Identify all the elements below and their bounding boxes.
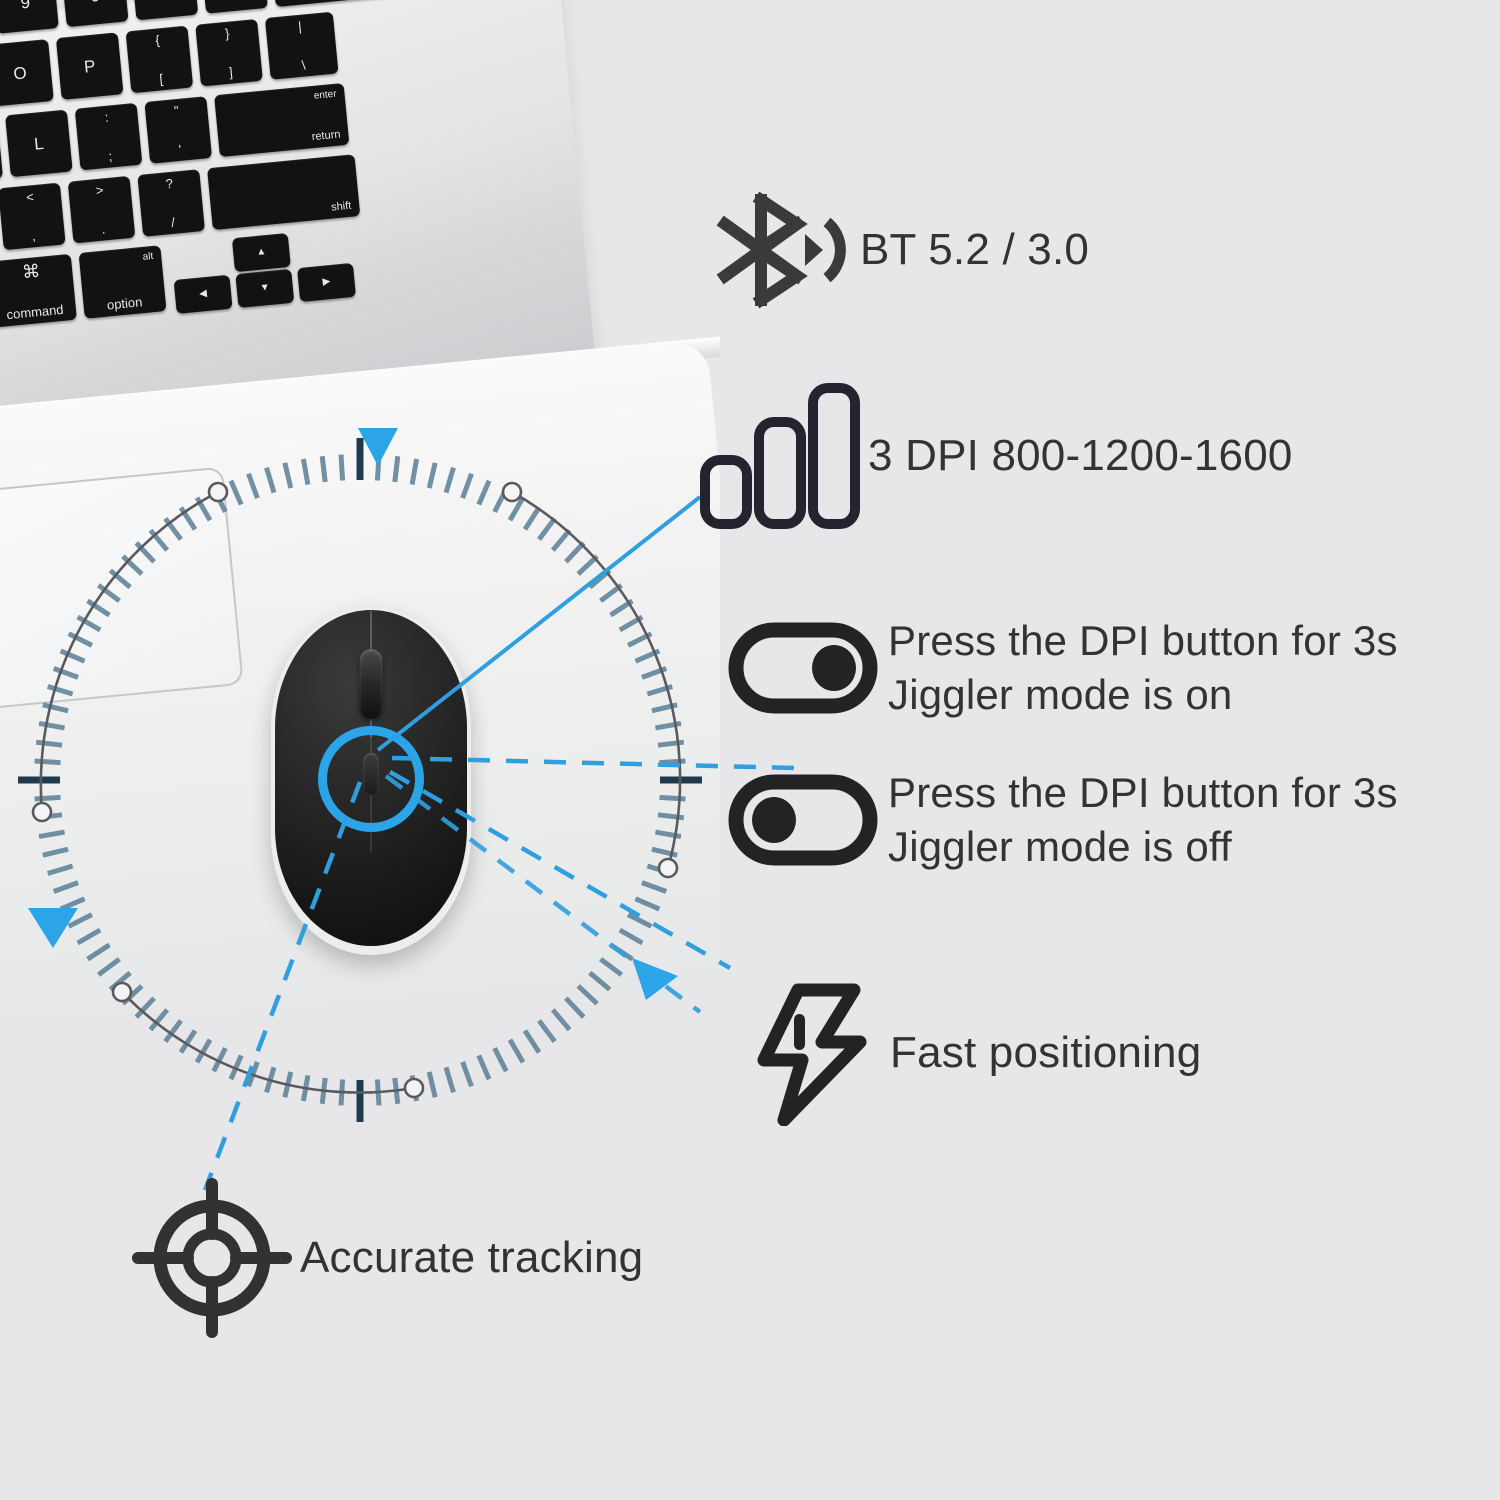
toggle-on-icon-svg bbox=[728, 622, 878, 714]
key-shift-right: shift bbox=[207, 154, 360, 230]
lightning-bolt-icon-svg bbox=[750, 980, 880, 1126]
dial-tick bbox=[341, 1080, 343, 1106]
key-backslash: |\ bbox=[265, 12, 339, 80]
key-semicolon: :; bbox=[75, 103, 143, 171]
key-comma: <, bbox=[0, 183, 66, 251]
key-equal: = bbox=[201, 0, 268, 14]
dial-tick bbox=[151, 1010, 168, 1030]
bluetooth-icon-svg bbox=[705, 186, 855, 314]
toggle-off-knob bbox=[752, 797, 796, 843]
dial-tick bbox=[479, 1056, 489, 1080]
signal-bars-icon-svg bbox=[694, 380, 864, 532]
bluetooth-wave-small bbox=[805, 234, 823, 266]
key-p: P bbox=[56, 32, 124, 100]
dial-tick bbox=[446, 1067, 454, 1092]
mouse-scroll-wheel bbox=[360, 649, 383, 719]
dial-tick bbox=[214, 1048, 226, 1071]
signal-bars-icon bbox=[690, 380, 868, 532]
dial-tick bbox=[495, 1048, 507, 1071]
dial-tick bbox=[267, 1067, 275, 1092]
key-arrow-left: ◀ bbox=[174, 275, 233, 314]
bluetooth-wave-large bbox=[827, 222, 840, 278]
dial-tick bbox=[377, 1080, 379, 1106]
key-period: >. bbox=[68, 176, 136, 244]
feature-fast-positioning-label: Fast positioning bbox=[890, 1025, 1201, 1081]
feature-fast-positioning: Fast positioning bbox=[740, 978, 1480, 1128]
feature-accurate-tracking-label: Accurate tracking bbox=[300, 1230, 643, 1286]
dpi-button-highlight-ring bbox=[318, 726, 424, 832]
key-quote: "' bbox=[144, 96, 212, 164]
key-bracket-left: {[ bbox=[126, 26, 194, 94]
feature-jiggler-off: Press the DPI button for 3s Jiggler mode… bbox=[718, 760, 1488, 880]
signal-bar-1 bbox=[705, 460, 747, 524]
bolt-inner-mark bbox=[794, 1014, 805, 1050]
key-return: enterreturn bbox=[214, 83, 349, 157]
feature-dpi: 3 DPI 800-1200-1600 bbox=[690, 380, 1480, 532]
key-arrow-up: ▲ bbox=[232, 233, 291, 272]
dial-tick bbox=[429, 1072, 435, 1097]
key-minus: - bbox=[131, 0, 198, 20]
dial-tick bbox=[510, 1040, 523, 1063]
key-o: O bbox=[0, 39, 54, 107]
feature-dpi-label: 3 DPI 800-1200-1600 bbox=[868, 428, 1293, 484]
toggle-on-icon bbox=[718, 618, 888, 718]
crosshair-target-icon-svg bbox=[132, 1178, 292, 1338]
product-photo: 8 9 0 - = delete I O P {[ }] |\ K L :; "… bbox=[0, 0, 720, 1010]
dial-tick bbox=[322, 1078, 325, 1104]
dial-tick bbox=[395, 1078, 398, 1104]
toggle-on-knob bbox=[812, 645, 856, 691]
laptop-keyboard: 8 9 0 - = delete I O P {[ }] |\ K L :; "… bbox=[0, 0, 573, 440]
key-command: ⌘command bbox=[0, 254, 77, 328]
toggle-off-icon bbox=[718, 770, 888, 870]
feature-bluetooth-label: BT 5.2 / 3.0 bbox=[860, 222, 1089, 278]
feature-bluetooth: BT 5.2 / 3.0 bbox=[700, 186, 1460, 314]
crosshair-inner-ring bbox=[188, 1234, 236, 1282]
dial-tick bbox=[249, 1062, 258, 1086]
signal-bar-2 bbox=[759, 422, 801, 524]
key-9: 9 bbox=[0, 0, 59, 34]
toggle-off-icon-svg bbox=[728, 774, 878, 866]
dial-tick bbox=[463, 1062, 472, 1086]
laptop-trackpad bbox=[0, 466, 244, 712]
infographic-canvas: 8 9 0 - = delete I O P {[ }] |\ K L :; "… bbox=[0, 0, 1500, 1500]
dial-tick bbox=[303, 1075, 308, 1101]
feature-jiggler-on: Press the DPI button for 3s Jiggler mode… bbox=[718, 608, 1488, 728]
feature-accurate-tracking: Accurate tracking bbox=[124, 1178, 904, 1338]
key-k: K bbox=[0, 116, 3, 184]
dial-tick bbox=[285, 1072, 291, 1097]
crosshair-arms bbox=[138, 1184, 286, 1332]
dial-tick bbox=[525, 1031, 539, 1053]
feature-jiggler-on-label: Press the DPI button for 3s Jiggler mode… bbox=[888, 614, 1398, 722]
dial-tick bbox=[181, 1031, 195, 1053]
feature-jiggler-off-label: Press the DPI button for 3s Jiggler mode… bbox=[888, 766, 1398, 874]
dial-tick bbox=[197, 1040, 210, 1063]
key-arrow-right: ▶ bbox=[297, 263, 356, 302]
dial-tick bbox=[231, 1056, 241, 1080]
dial-tick bbox=[539, 1021, 555, 1042]
key-0: 0 bbox=[61, 0, 128, 27]
signal-bar-3 bbox=[813, 388, 855, 524]
key-bracket-right: }] bbox=[195, 19, 263, 87]
key-slash: ?/ bbox=[137, 169, 205, 237]
bluetooth-icon bbox=[700, 186, 860, 314]
arc-endpoint-bottom bbox=[405, 1079, 423, 1097]
key-arrow-down: ▼ bbox=[235, 269, 294, 308]
key-l: L bbox=[5, 110, 73, 178]
dial-tick bbox=[165, 1021, 181, 1042]
crosshair-target-icon bbox=[124, 1178, 300, 1338]
dial-tick bbox=[553, 1010, 570, 1030]
key-option: altoption bbox=[79, 245, 167, 319]
wireless-mouse bbox=[271, 607, 471, 955]
lightning-bolt-icon bbox=[740, 978, 890, 1128]
key-delete: delete bbox=[270, 0, 403, 7]
dial-tick bbox=[412, 1075, 417, 1101]
